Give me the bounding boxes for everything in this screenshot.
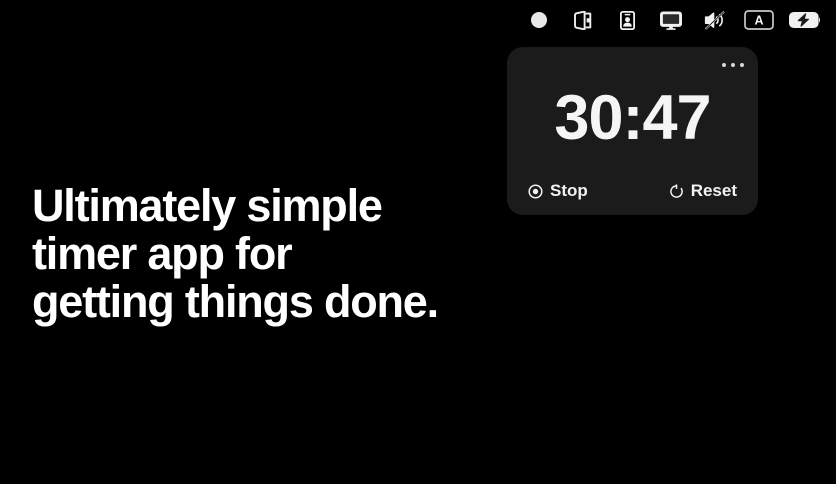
reset-button-label: Reset bbox=[691, 181, 737, 201]
ellipsis-dot bbox=[740, 63, 744, 67]
screen-sharing-icon[interactable] bbox=[568, 7, 598, 33]
stop-button[interactable]: Stop bbox=[528, 181, 588, 201]
svg-text:A: A bbox=[754, 14, 763, 28]
timer-time-display: 30:47 bbox=[507, 87, 758, 150]
input-source-a-icon[interactable]: A bbox=[744, 7, 774, 33]
record-circle-icon[interactable] bbox=[524, 7, 554, 33]
battery-charging-icon[interactable] bbox=[788, 7, 822, 33]
page-headline: Ultimately simple timer app for getting … bbox=[32, 182, 502, 326]
timer-widget[interactable]: 30:47 Stop Reset bbox=[507, 47, 758, 215]
widget-more-options-icon[interactable] bbox=[722, 57, 744, 73]
stop-record-icon bbox=[528, 184, 543, 199]
ellipsis-dot bbox=[722, 63, 726, 67]
menu-bar: A bbox=[0, 0, 836, 40]
user-badge-icon[interactable] bbox=[612, 7, 642, 33]
reset-arrow-icon bbox=[669, 184, 684, 199]
display-icon[interactable] bbox=[656, 7, 686, 33]
volume-muted-icon[interactable] bbox=[700, 7, 730, 33]
ellipsis-dot bbox=[731, 63, 735, 67]
reset-button[interactable]: Reset bbox=[669, 181, 737, 201]
timer-actions: Stop Reset bbox=[507, 181, 758, 201]
stop-button-label: Stop bbox=[550, 181, 588, 201]
